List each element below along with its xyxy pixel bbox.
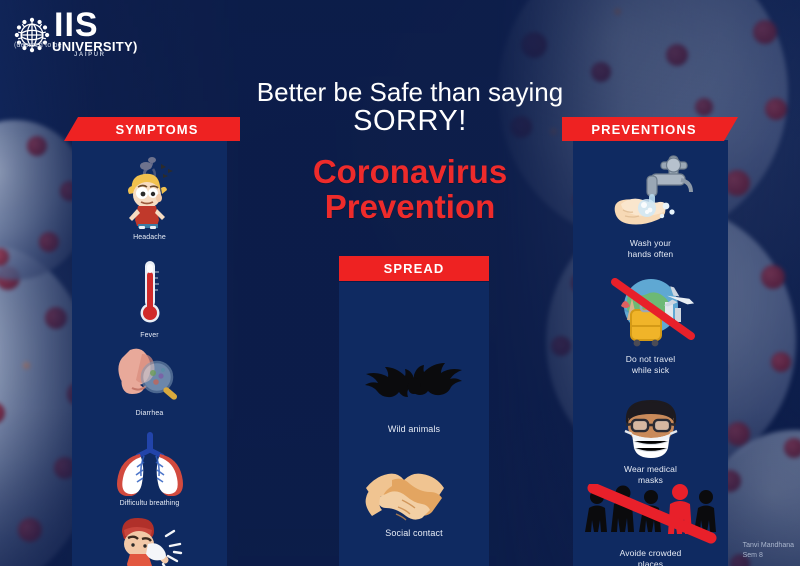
headache-person-icon — [116, 156, 184, 230]
headline-line-1: Better be Safe than saying — [215, 78, 605, 106]
title-line-2: Prevention — [215, 190, 605, 225]
virus-wheel-logo-icon — [10, 14, 54, 56]
symptom-label: Difficultu breathing — [120, 500, 180, 509]
prevention-label-line-1: Wear medical — [624, 464, 677, 474]
symptom-item-runny-nose: Runny nose — [72, 514, 227, 566]
symptom-item-headache: Headache — [72, 156, 227, 243]
logo-city-text: JAIPUR — [74, 52, 106, 58]
spread-item-wild-animals: Wild animals — [339, 360, 489, 435]
prevention-label-line-2: hands often — [628, 249, 674, 259]
prevention-label-line-2: while sick — [632, 365, 669, 375]
prevention-label-line-1: Avoide crowded — [620, 548, 682, 558]
spread-label: Wild animals — [388, 424, 440, 435]
author-signature: Tanvi Mandhana Sem 8 — [743, 541, 794, 560]
no-travel-globe-luggage-icon — [595, 276, 707, 350]
prevention-label-line-1: Wash your — [630, 238, 671, 248]
symptom-item-diarrhea: Diarrhea — [72, 344, 227, 419]
symptoms-banner: SYMPTOMS — [64, 117, 240, 141]
symptom-item-fever: Fever — [72, 258, 227, 341]
prevention-item-avoid-crowds: Avoide crowded places — [573, 484, 728, 566]
prevention-item-wash-hands: Wash your hands often — [573, 154, 728, 259]
author-semester: Sem 8 — [743, 551, 794, 560]
thermometer-fever-icon — [130, 258, 170, 328]
stomach-magnifier-icon — [112, 344, 188, 406]
headline-line-2: SORRY! — [215, 106, 605, 137]
symptoms-panel: Headache Fever — [72, 140, 227, 566]
prevention-label: Avoide crowded places — [620, 548, 682, 566]
spread-item-social-contact: Social contact — [339, 464, 489, 539]
symptom-label: Fever — [140, 332, 158, 341]
faucet-washing-hands-icon — [603, 154, 699, 234]
handshake-icon — [362, 464, 466, 524]
symptom-label: Diarrhea — [136, 410, 164, 419]
symptom-label: Headache — [133, 234, 166, 243]
prevention-label: Do not travel while sick — [626, 354, 676, 375]
logo-brand-text: IIS — [54, 8, 99, 42]
preventions-panel: Wash your hands often — [573, 140, 728, 566]
masked-face-icon — [608, 396, 694, 460]
prevention-label: Wash your hands often — [628, 238, 674, 259]
spread-banner: SPREAD — [339, 256, 489, 281]
sneezing-person-icon — [108, 514, 192, 566]
prevention-item-no-travel: Do not travel while sick — [573, 276, 728, 375]
title-line-1: Coronavirus — [215, 155, 605, 190]
prevention-label: Wear medical masks — [624, 464, 677, 485]
lungs-icon — [110, 430, 190, 496]
prevention-item-wear-mask: Wear medical masks — [573, 396, 728, 485]
prevention-label-line-1: Do not travel — [626, 354, 676, 364]
author-name: Tanvi Mandhana — [743, 541, 794, 550]
iis-university-logo: IIS (deemed to be UNIVERSITY) JAIPUR — [8, 6, 138, 62]
preventions-banner: PREVENTIONS — [562, 117, 738, 141]
headline-block: Better be Safe than saying SORRY! — [215, 78, 605, 137]
no-crowd-people-icon — [585, 484, 717, 544]
symptom-item-breathing: Difficultu breathing — [72, 430, 227, 509]
poster-canvas: IIS (deemed to be UNIVERSITY) JAIPUR Bet… — [0, 0, 800, 566]
poster-title: Coronavirus Prevention — [215, 155, 605, 225]
prevention-label-line-2: places — [638, 559, 663, 566]
bat-icon — [356, 360, 472, 420]
spread-label: Social contact — [385, 528, 442, 539]
spread-panel: Wild animals Social contact — [339, 282, 489, 566]
